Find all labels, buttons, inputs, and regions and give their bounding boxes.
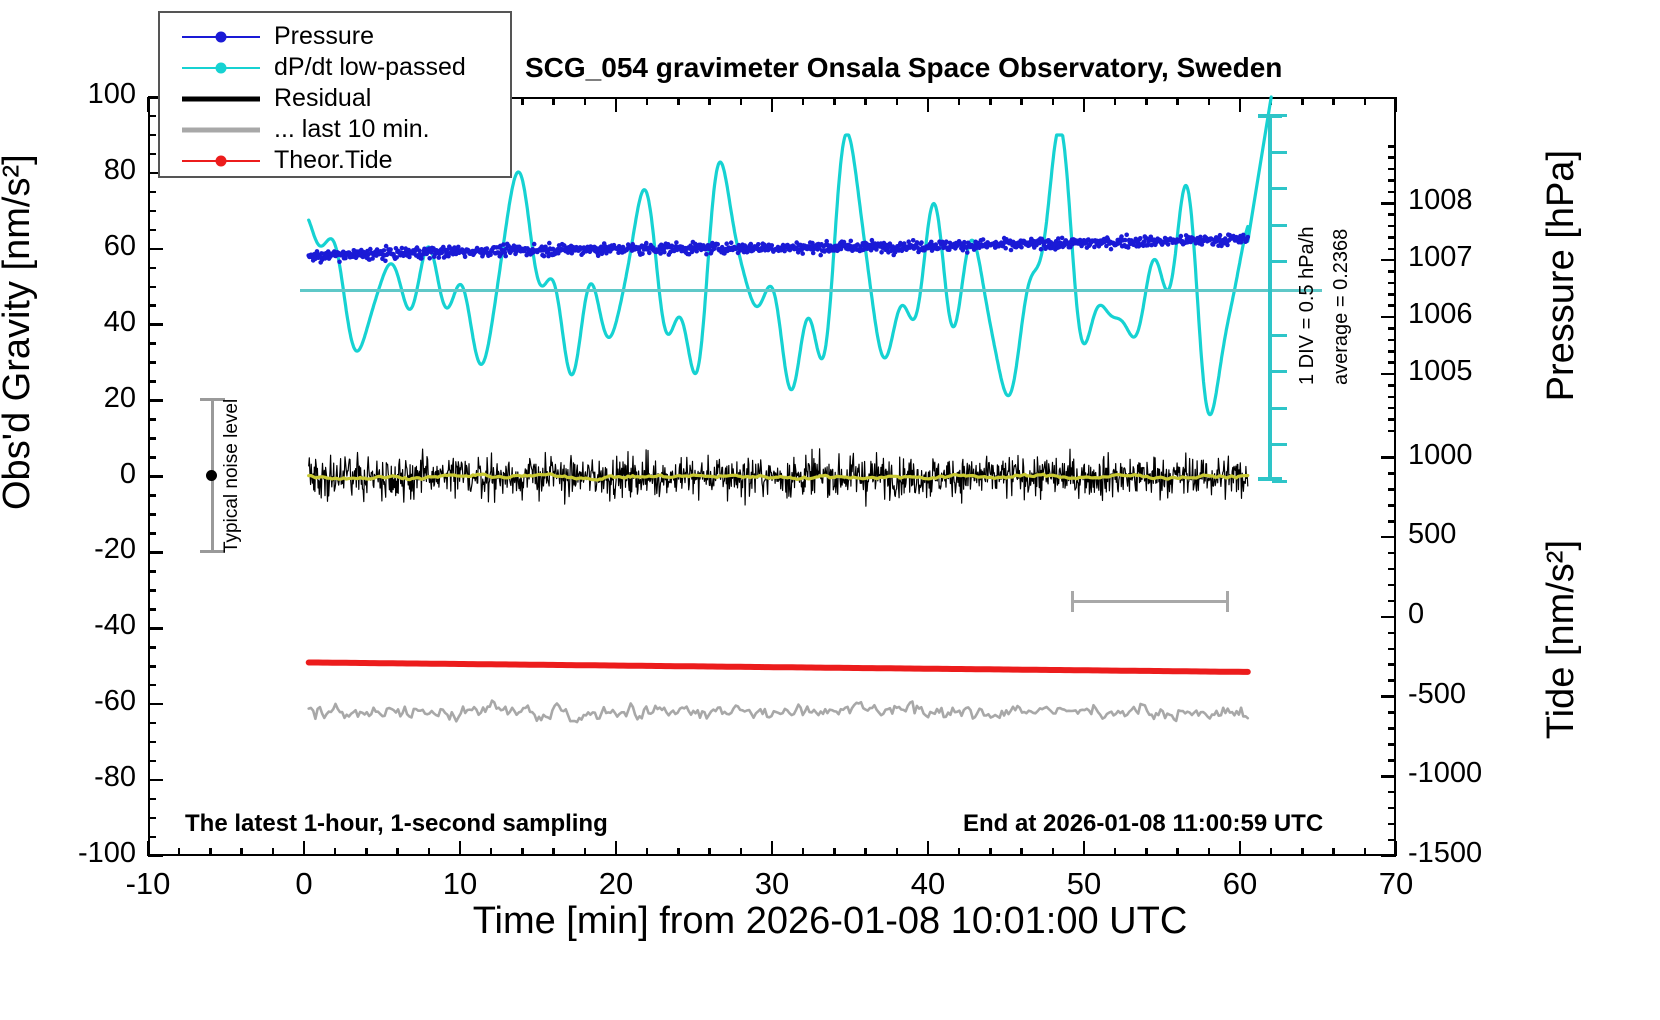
- legend-swatch-icon: [182, 123, 260, 137]
- dpdt-zero-line: [300, 289, 1322, 292]
- ten-minute-scale-bar: [1071, 600, 1229, 603]
- noise-level-marker: Typical noise level: [185, 398, 245, 563]
- legend-marker-dot: [216, 62, 227, 73]
- legend-swatch-icon: [182, 61, 260, 75]
- noise-level-label: Typical noise level: [221, 399, 243, 553]
- legend-line: [182, 127, 260, 132]
- gravimeter-plot: SCG_054 gravimeter Onsala Space Observat…: [0, 0, 1660, 1020]
- legend-label: Theor.Tide: [260, 146, 393, 175]
- dpdt-scale-axis: [1268, 114, 1272, 480]
- legend-swatch-icon: [182, 92, 260, 106]
- legend-item-3: ... last 10 min.: [160, 114, 510, 145]
- legend-marker-dot: [216, 155, 227, 166]
- scale-bar-cap-right: [1226, 591, 1229, 612]
- legend-item-4: Theor.Tide: [160, 145, 510, 176]
- series-theoretical-tide: [309, 663, 1248, 672]
- legend: PressuredP/dt low-passedResidual... last…: [158, 11, 512, 178]
- dpdt-scale-tick: [1272, 187, 1287, 190]
- noise-center-dot: [206, 470, 217, 481]
- dpdt-scale-tick: [1272, 224, 1287, 227]
- legend-marker-dot: [216, 31, 227, 42]
- dpdt-scale-tick: [1272, 443, 1287, 446]
- legend-label: Residual: [260, 84, 371, 113]
- dpdt-div-label: 1 DIV = 0.5 hPa/h: [1296, 227, 1319, 385]
- end-time-note: End at 2026-01-08 11:00:59 UTC: [963, 810, 1323, 838]
- dpdt-scale-tick: [1272, 114, 1287, 117]
- legend-item-1: dP/dt low-passed: [160, 52, 510, 83]
- dpdt-average-label: average = 0.2368: [1330, 229, 1353, 385]
- dpdt-scale-tick: [1272, 407, 1287, 410]
- dpdt-scale-tick: [1272, 260, 1287, 263]
- legend-label: Pressure: [260, 22, 374, 51]
- legend-line: [182, 96, 260, 101]
- legend-swatch-icon: [182, 154, 260, 168]
- scale-bar-cap-left: [1071, 591, 1074, 612]
- dpdt-scale-tick: [1272, 334, 1287, 337]
- legend-swatch-icon: [182, 30, 260, 44]
- legend-item-0: Pressure: [160, 21, 510, 52]
- sampling-note: The latest 1-hour, 1-second sampling: [185, 810, 608, 838]
- legend-label: dP/dt low-passed: [260, 53, 466, 82]
- dpdt-scale-tick: [1272, 370, 1287, 373]
- series-last-10-min: [309, 701, 1248, 723]
- series-pressure: [306, 232, 1250, 264]
- dpdt-scale-tick: [1272, 151, 1287, 154]
- legend-item-2: Residual: [160, 83, 510, 114]
- legend-label: ... last 10 min.: [260, 115, 430, 144]
- dpdt-scale-tick: [1272, 480, 1287, 483]
